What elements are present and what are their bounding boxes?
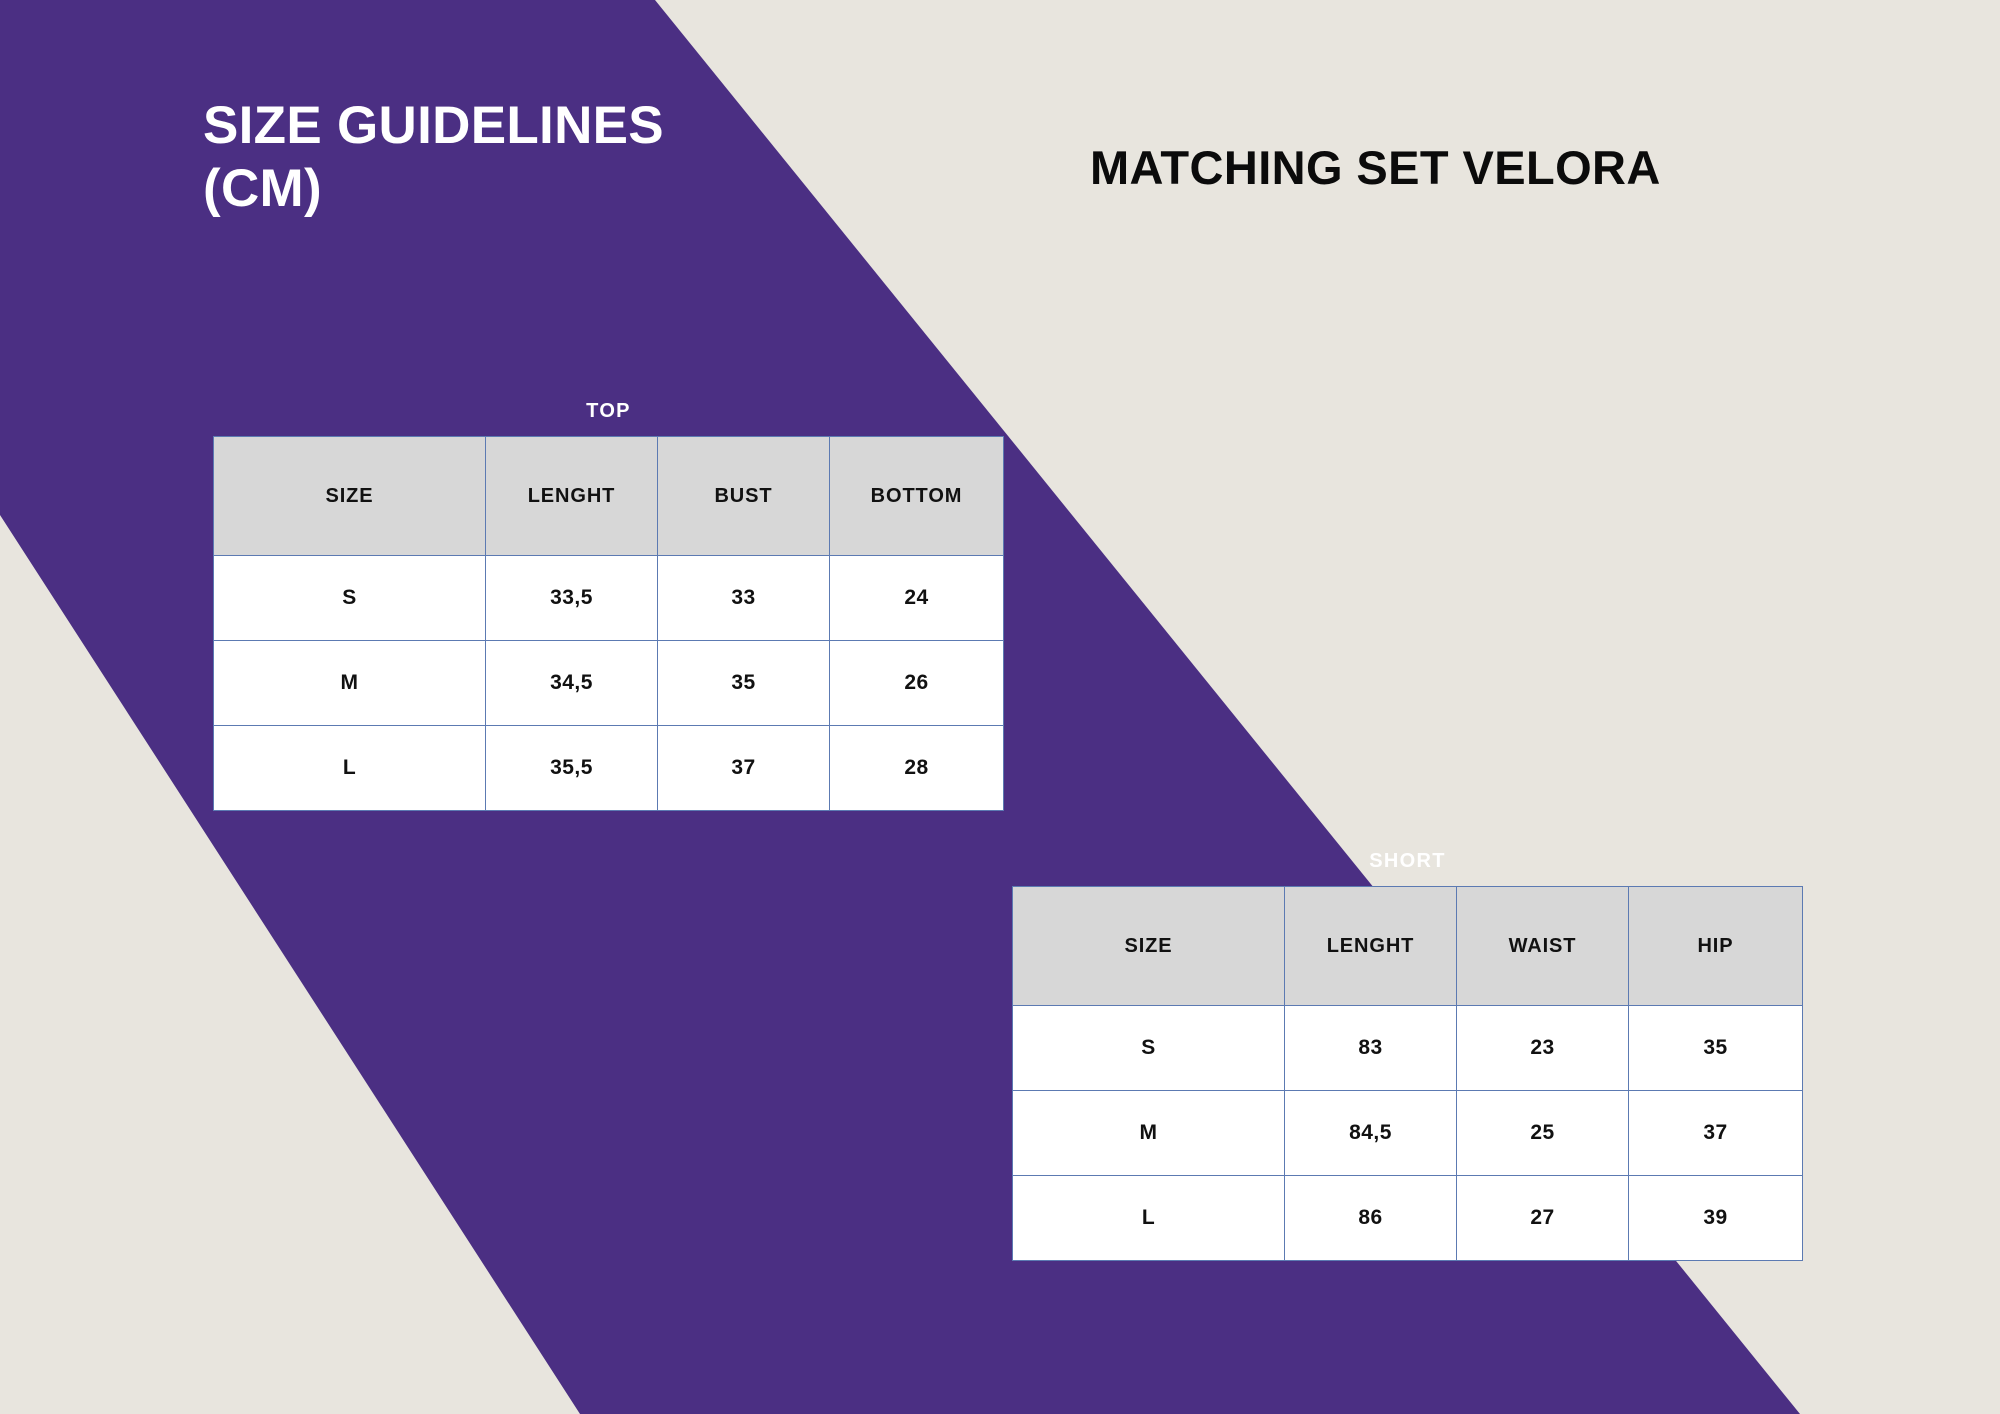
column-header-bust: BUST bbox=[658, 437, 830, 556]
table-row: S 83 23 35 bbox=[1013, 1006, 1803, 1091]
cell-bust: 33 bbox=[658, 556, 830, 641]
cell-size: S bbox=[214, 556, 486, 641]
column-header-waist: WAIST bbox=[1457, 887, 1629, 1006]
cell-lenght: 86 bbox=[1285, 1176, 1457, 1261]
cell-lenght: 34,5 bbox=[486, 641, 658, 726]
cell-size: S bbox=[1013, 1006, 1285, 1091]
poster-canvas: SIZE GUIDELINES (CM) MATCHING SET VELORA… bbox=[0, 0, 2000, 1414]
cell-lenght: 33,5 bbox=[486, 556, 658, 641]
cell-size: L bbox=[214, 726, 486, 811]
short-table-caption: SHORT bbox=[1012, 850, 1803, 873]
cell-hip: 35 bbox=[1629, 1006, 1803, 1091]
cell-hip: 39 bbox=[1629, 1176, 1803, 1261]
column-header-size: SIZE bbox=[214, 437, 486, 556]
table-row: M 34,5 35 26 bbox=[214, 641, 1004, 726]
cell-lenght: 35,5 bbox=[486, 726, 658, 811]
column-header-lenght: LENGHT bbox=[486, 437, 658, 556]
table-row: L 35,5 37 28 bbox=[214, 726, 1004, 811]
top-size-table-block: TOP SIZE LENGHT BUST BOTTOM S 33,5 33 24 bbox=[213, 400, 1004, 811]
cell-size: M bbox=[1013, 1091, 1285, 1176]
cell-lenght: 84,5 bbox=[1285, 1091, 1457, 1176]
table-row: S 33,5 33 24 bbox=[214, 556, 1004, 641]
column-header-size: SIZE bbox=[1013, 887, 1285, 1006]
top-table-caption: TOP bbox=[213, 400, 1004, 423]
table-header-row: SIZE LENGHT BUST BOTTOM bbox=[214, 437, 1004, 556]
cell-bust: 35 bbox=[658, 641, 830, 726]
table-row: M 84,5 25 37 bbox=[1013, 1091, 1803, 1176]
column-header-lenght: LENGHT bbox=[1285, 887, 1457, 1006]
short-size-table: SIZE LENGHT WAIST HIP S 83 23 35 M 84,5 … bbox=[1012, 886, 1803, 1261]
column-header-bottom: BOTTOM bbox=[830, 437, 1004, 556]
table-header-row: SIZE LENGHT WAIST HIP bbox=[1013, 887, 1803, 1006]
cell-bust: 37 bbox=[658, 726, 830, 811]
column-header-hip: HIP bbox=[1629, 887, 1803, 1006]
page-title-left: SIZE GUIDELINES (CM) bbox=[203, 95, 823, 220]
cell-waist: 27 bbox=[1457, 1176, 1629, 1261]
page-title-left-line1: SIZE GUIDELINES bbox=[203, 95, 823, 158]
page-title-left-line2: (CM) bbox=[203, 158, 823, 221]
cell-bottom: 26 bbox=[830, 641, 1004, 726]
cell-waist: 23 bbox=[1457, 1006, 1629, 1091]
page-title-right: MATCHING SET VELORA bbox=[1090, 140, 1661, 195]
cell-lenght: 83 bbox=[1285, 1006, 1457, 1091]
cell-size: M bbox=[214, 641, 486, 726]
cell-size: L bbox=[1013, 1176, 1285, 1261]
cell-hip: 37 bbox=[1629, 1091, 1803, 1176]
cell-bottom: 28 bbox=[830, 726, 1004, 811]
short-size-table-block: SHORT SIZE LENGHT WAIST HIP S 83 23 35 bbox=[1012, 850, 1803, 1261]
table-row: L 86 27 39 bbox=[1013, 1176, 1803, 1261]
top-size-table: SIZE LENGHT BUST BOTTOM S 33,5 33 24 M 3… bbox=[213, 436, 1004, 811]
cell-waist: 25 bbox=[1457, 1091, 1629, 1176]
cell-bottom: 24 bbox=[830, 556, 1004, 641]
